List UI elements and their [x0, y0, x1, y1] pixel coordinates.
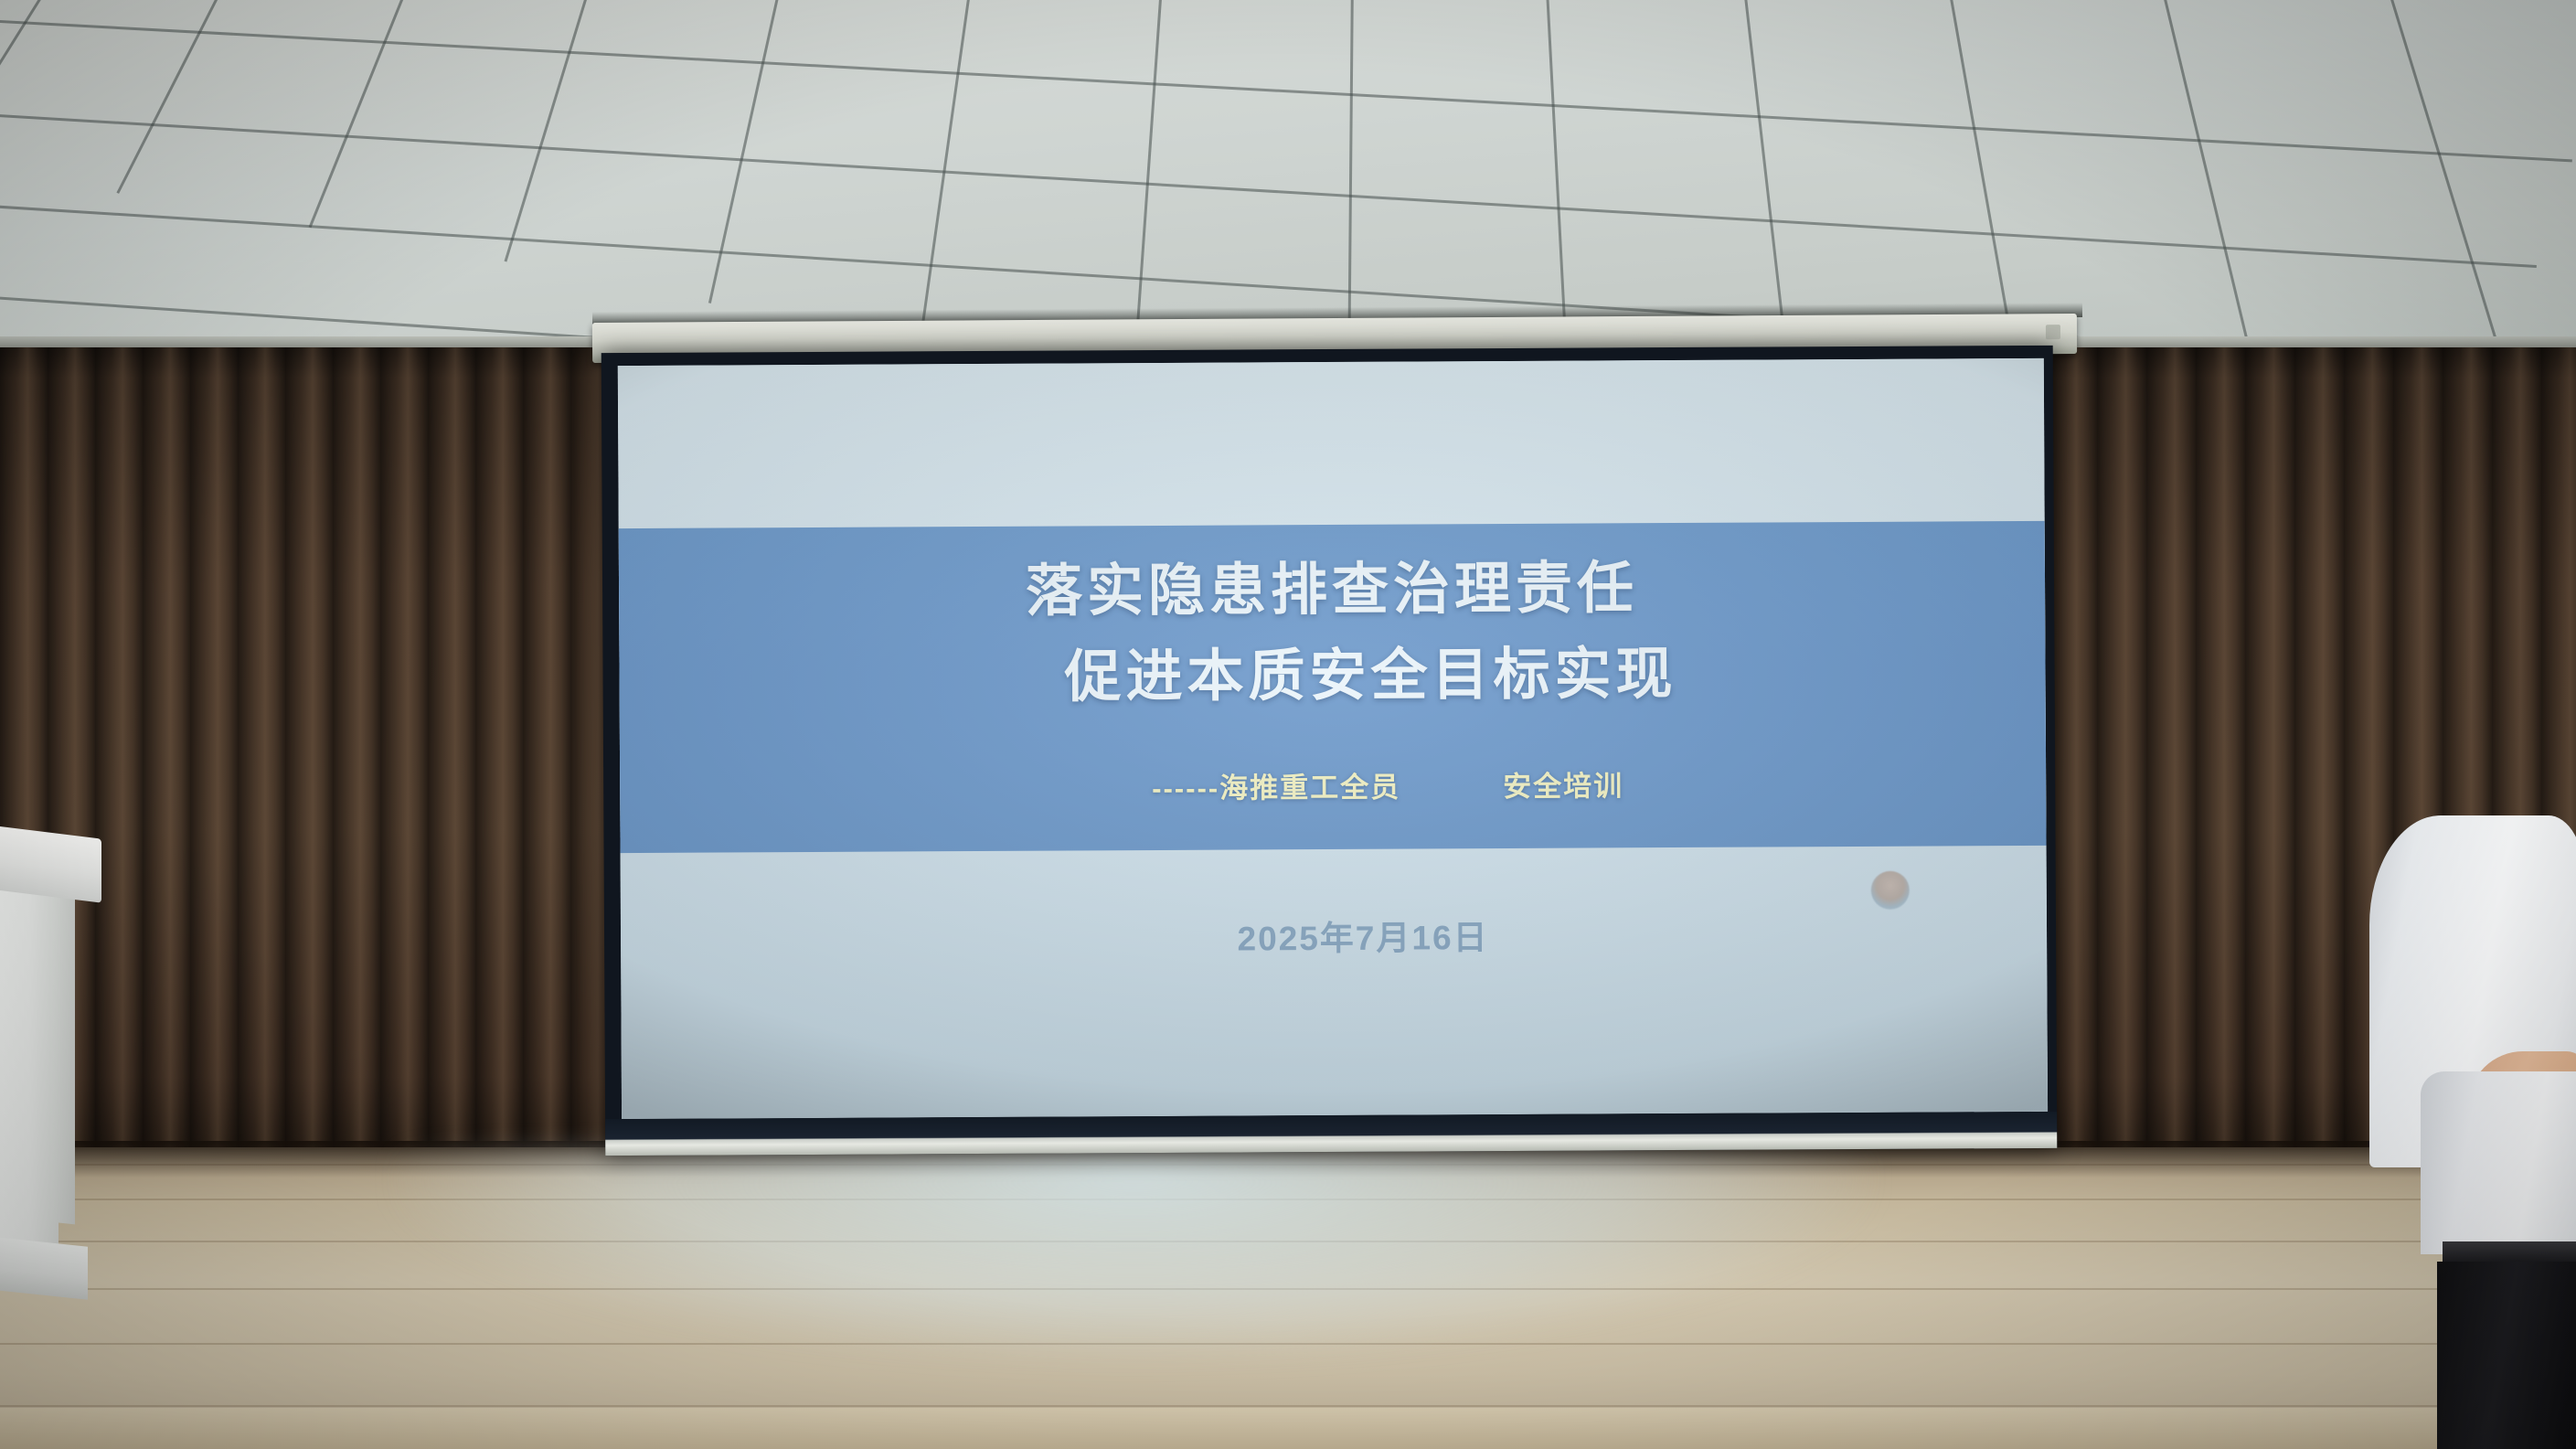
slide-date: 2025年7月16日	[621, 907, 2047, 964]
room-scene: 落实隐患排查治理责任 促进本质安全目标实现 ------海推重工全员安全培训 2…	[0, 0, 2576, 1449]
lectern-top	[0, 825, 101, 902]
lectern-column-side	[51, 893, 75, 1225]
presenter-avatar	[1871, 871, 1910, 910]
subtitle-spacer	[1400, 796, 1503, 797]
floor-front-edge	[0, 1408, 2576, 1449]
projector-light-spill	[393, 1150, 1874, 1424]
screen-weight-bar	[605, 1112, 2057, 1156]
subtitle-right-text: 安全培训	[1503, 770, 1623, 803]
slide-title-line-1: 落实隐患排查治理责任	[619, 539, 2045, 629]
projection-screen: 落实隐患排查治理责任 促进本质安全目标实现 ------海推重工全员安全培训 2…	[601, 346, 2058, 1156]
screen-surface: 落实隐患排查治理责任 促进本质安全目标实现 ------海推重工全员安全培训 2…	[618, 358, 2048, 1119]
slide-subtitle: ------海推重工全员安全培训	[620, 761, 2046, 809]
subtitle-left-text: 海推重工全员	[1219, 772, 1400, 804]
slide-title-line-2: 促进本质安全目标实现	[619, 625, 2045, 715]
housing-endcap-icon	[2046, 325, 2060, 339]
person-shirt-lower	[2421, 1071, 2576, 1254]
person-trousers	[2437, 1262, 2576, 1449]
lectern-base	[0, 1236, 88, 1300]
lectern-column	[0, 882, 59, 1248]
ceiling	[0, 0, 2576, 358]
presentation-slide: 落实隐患排查治理责任 促进本质安全目标实现 ------海推重工全员安全培训 2…	[618, 358, 2048, 1119]
subtitle-dashes: ------	[1152, 772, 1219, 804]
